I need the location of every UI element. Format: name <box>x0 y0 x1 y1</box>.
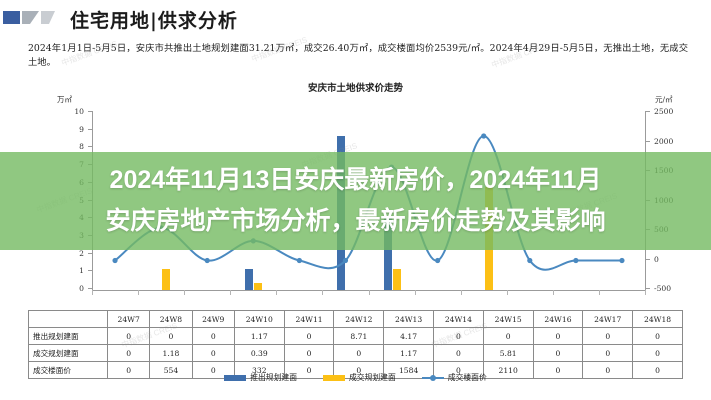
y-axis-right-tick-label: 0 <box>654 255 659 264</box>
chart-legend: 推出规划建面成交规划建面成交楼面价 <box>0 372 711 383</box>
x-axis-separator <box>553 290 554 295</box>
legend-label: 成交楼面价 <box>448 372 487 383</box>
promo-overlay-banner: 2024年11月13日安庆最新房价，2024年11月 安庆房地产市场分析，最新房… <box>0 152 711 250</box>
y-axis-right-tick <box>646 288 650 289</box>
price-point-24W17 <box>573 258 578 263</box>
price-point-24W7 <box>112 258 117 263</box>
promo-line-2: 安庆房地产市场分析，最新房价走势及其影响 <box>105 201 605 242</box>
x-axis-separator <box>322 290 323 295</box>
chart-title: 安庆市土地供求价走势 <box>0 80 711 94</box>
x-axis-separator <box>461 290 462 295</box>
table-col-header: 24W14 <box>434 311 484 328</box>
table-cell: 8.71 <box>334 328 384 345</box>
table-cell: 1.18 <box>150 345 192 362</box>
table-cell: 0 <box>284 328 334 345</box>
header-bar: 住宅用地|供求分析 <box>0 0 711 34</box>
table-cell: 0 <box>533 345 583 362</box>
table-cell: 1.17 <box>384 345 434 362</box>
price-point-24W15 <box>481 133 486 138</box>
table-row: 成交规划建面01.1800.39001.1705.81000 <box>29 345 683 362</box>
x-axis-separator <box>92 290 93 295</box>
legend-item[interactable]: 成交楼面价 <box>422 372 487 383</box>
y-axis-left-tick-label: 1 <box>58 266 84 275</box>
x-axis-separator <box>645 290 646 295</box>
price-point-24W9 <box>205 258 210 263</box>
y-axis-right-tick-label: 2000 <box>654 137 673 146</box>
summary-paragraph: 2024年1月1日-5月5日，安庆市共推出土地规划建面31.21万㎡，成交26.… <box>28 42 688 70</box>
table-cell: 0 <box>284 345 334 362</box>
table-col-header: 24W13 <box>384 311 434 328</box>
table-col-header: 24W18 <box>633 311 683 328</box>
y-axis-left-unit: 万㎡ <box>57 94 72 105</box>
price-point-24W16 <box>527 258 532 263</box>
table-col-header: 24W10 <box>234 311 284 328</box>
x-axis-separator <box>599 290 600 295</box>
table-col-header: 24W12 <box>334 311 384 328</box>
x-axis-separator <box>138 290 139 295</box>
table-cell: 0 <box>633 328 683 345</box>
table-cell: 0 <box>108 328 150 345</box>
brand-logo-icon <box>3 9 61 26</box>
table-col-header: 24W17 <box>583 311 633 328</box>
table-cell: 0 <box>150 328 192 345</box>
table-row-header: 推出规划建面 <box>29 328 108 345</box>
table-corner-cell <box>29 311 108 328</box>
table-cell: 0 <box>192 345 234 362</box>
table-header-row: 24W724W824W924W1024W1124W1224W1324W1424W… <box>29 311 683 328</box>
y-axis-left-tick-label: 10 <box>58 107 84 116</box>
y-axis-right-tick-label: -500 <box>654 284 671 293</box>
table-cell: 0 <box>108 345 150 362</box>
price-point-24W12 <box>343 258 348 263</box>
y-axis-left-tick-label: 8 <box>58 142 84 151</box>
price-point-24W18 <box>619 258 624 263</box>
table-cell: 0 <box>583 345 633 362</box>
table-row: 推出规划建面0001.1708.714.1700000 <box>29 328 683 345</box>
table-col-header: 24W16 <box>533 311 583 328</box>
y-axis-right-tick <box>646 111 650 112</box>
data-table: 24W724W824W924W1024W1124W1224W1324W1424W… <box>28 310 683 379</box>
x-axis-separator <box>369 290 370 295</box>
table-col-header: 24W11 <box>284 311 334 328</box>
price-point-24W14 <box>435 258 440 263</box>
table-cell: 4.17 <box>384 328 434 345</box>
y-axis-right-tick-label: 2500 <box>654 107 673 116</box>
y-axis-right-tick <box>646 259 650 260</box>
table-cell: 0 <box>334 345 384 362</box>
legend-swatch-icon <box>224 375 246 381</box>
legend-label: 成交规划建面 <box>349 372 396 383</box>
y-axis-right-unit: 元/㎡ <box>655 94 673 105</box>
x-axis-separator <box>230 290 231 295</box>
x-axis-separator <box>507 290 508 295</box>
table-cell: 0 <box>434 345 484 362</box>
table-col-header: 24W7 <box>108 311 150 328</box>
table-col-header: 24W9 <box>192 311 234 328</box>
table-cell: 1.17 <box>234 328 284 345</box>
promo-line-1: 2024年11月13日安庆最新房价，2024年11月 <box>110 160 602 201</box>
table-row-header: 成交规划建面 <box>29 345 108 362</box>
page-title: 住宅用地|供求分析 <box>70 6 238 33</box>
table-cell: 0 <box>192 328 234 345</box>
table-col-header: 24W8 <box>150 311 192 328</box>
y-axis-left-tick <box>88 111 92 112</box>
table-col-header: 24W15 <box>483 311 533 328</box>
legend-item[interactable]: 推出规划建面 <box>224 372 297 383</box>
table-body: 推出规划建面0001.1708.714.1700000成交规划建面01.1800… <box>29 328 683 379</box>
price-point-24W11 <box>297 258 302 263</box>
table-cell: 0 <box>533 328 583 345</box>
legend-label: 推出规划建面 <box>250 372 297 383</box>
y-axis-left-tick-label: 9 <box>58 125 84 134</box>
table-cell: 0 <box>483 328 533 345</box>
y-axis-left-tick-label: 0 <box>58 284 84 293</box>
legend-swatch-icon <box>323 375 345 381</box>
table-cell: 0 <box>434 328 484 345</box>
table-cell: 5.81 <box>483 345 533 362</box>
legend-item[interactable]: 成交规划建面 <box>323 372 396 383</box>
table-cell: 0.39 <box>234 345 284 362</box>
y-axis-right-tick <box>646 141 650 142</box>
x-axis-separator <box>184 290 185 295</box>
x-axis-separator <box>276 290 277 295</box>
table-cell: 0 <box>633 345 683 362</box>
legend-swatch-icon <box>422 374 444 382</box>
table-cell: 0 <box>583 328 633 345</box>
x-axis-separator <box>415 290 416 295</box>
